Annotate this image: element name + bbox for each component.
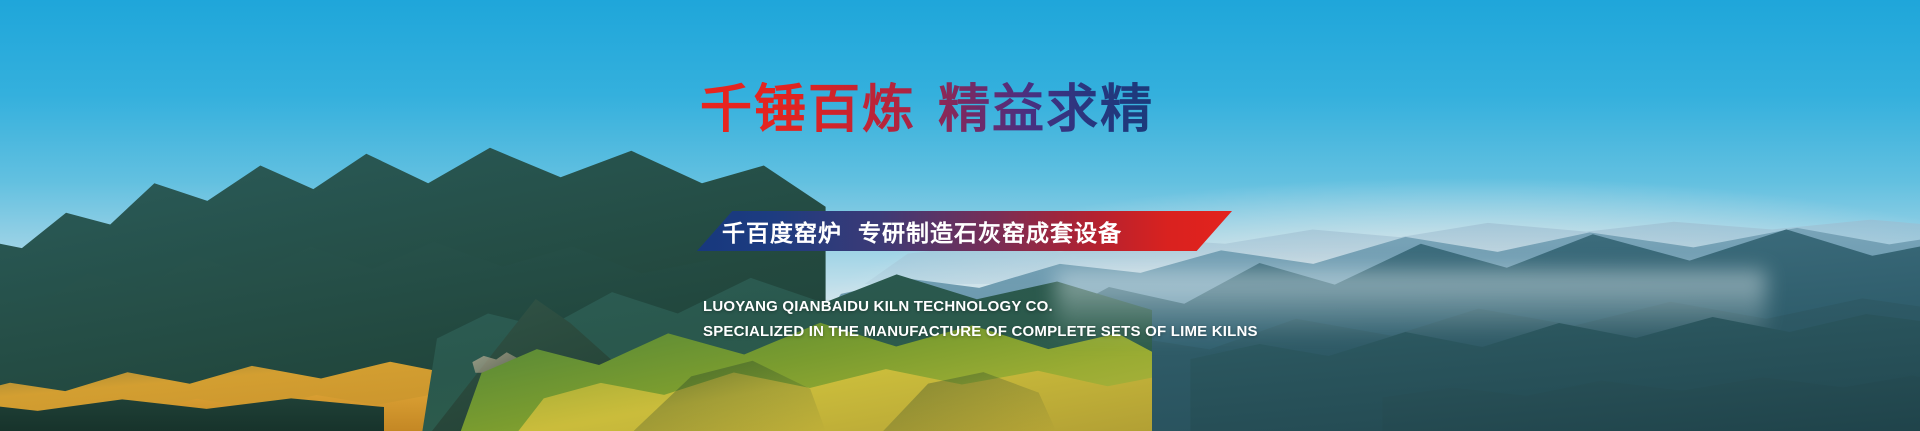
ribbon-part-1: 千百度窑炉	[722, 214, 842, 248]
headline-part-2: 精益求精	[938, 81, 1154, 139]
hero-banner: 千锤百炼精益求精 千百度窑炉专研制造石灰窑成套设备 LUOYANG QIANBA…	[0, 0, 1920, 431]
english-subtitle: LUOYANG QIANBAIDU KILN TECHNOLOGY CO. SP…	[703, 294, 1258, 344]
subtitle-line-1: LUOYANG QIANBAIDU KILN TECHNOLOGY CO.	[703, 294, 1258, 319]
tagline-ribbon-text: 千百度窑炉专研制造石灰窑成套设备	[722, 213, 1212, 249]
ribbon-part-2: 专研制造石灰窑成套设备	[858, 214, 1122, 248]
banner-content: 千锤百炼精益求精 千百度窑炉专研制造石灰窑成套设备 LUOYANG QIANBA…	[0, 0, 1920, 431]
banner-headline: 千锤百炼精益求精	[700, 82, 1154, 139]
headline-part-1: 千锤百炼	[700, 81, 916, 139]
subtitle-line-2: SPECIALIZED IN THE MANUFACTURE OF COMPLE…	[703, 319, 1258, 344]
